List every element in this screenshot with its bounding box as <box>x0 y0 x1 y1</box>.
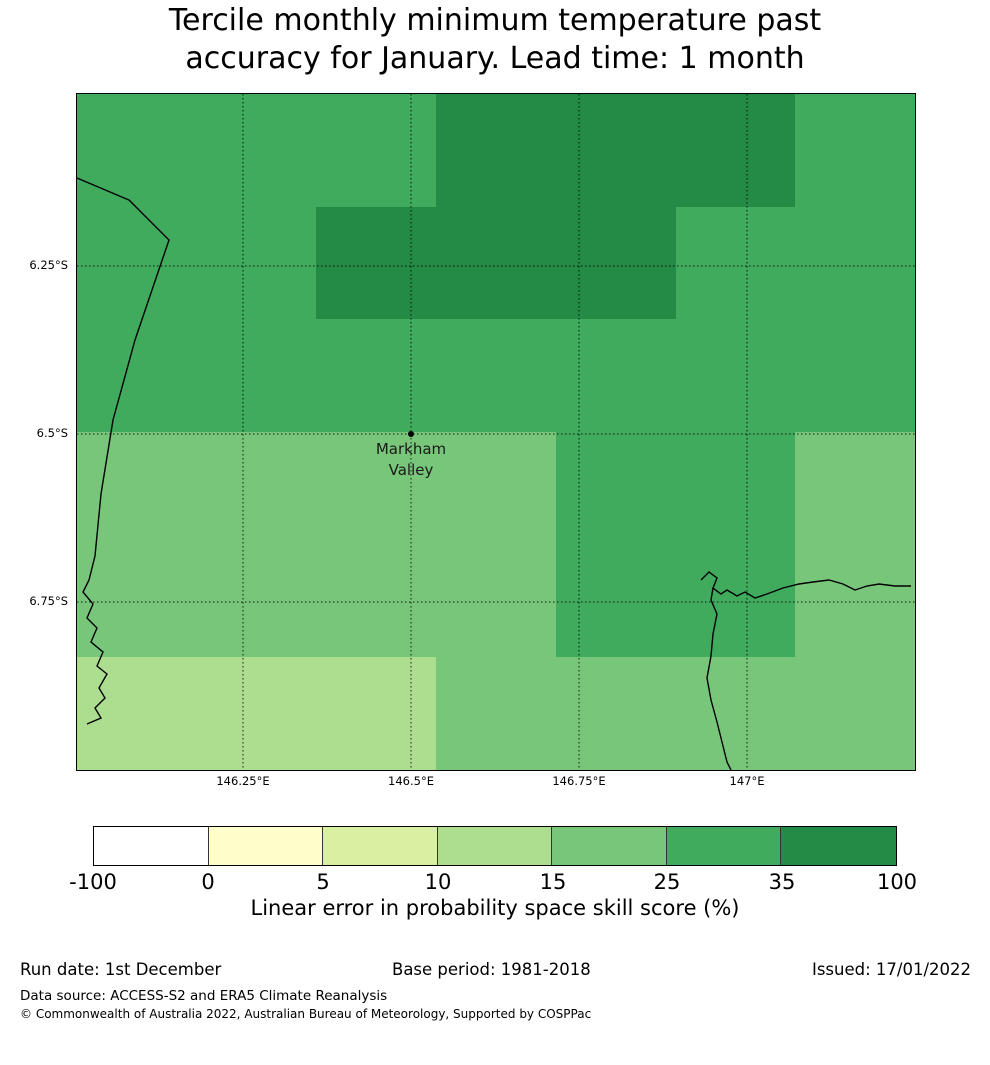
colorbar-tick-label: -100 <box>69 870 117 894</box>
footer-row: Run date: 1st December Base period: 1981… <box>0 960 990 984</box>
colorbar-swatch <box>552 827 667 865</box>
colorbar-swatch <box>94 827 209 865</box>
footer-issued-date: Issued: 17/01/2022 <box>812 960 971 980</box>
colorbar <box>93 826 897 866</box>
x-axis-tick-label: 147°E <box>730 775 765 787</box>
colorbar-tick-label: 25 <box>654 870 681 894</box>
colorbar-tick-label: 35 <box>769 870 796 894</box>
map-panel: Markham Valley <box>76 93 916 771</box>
x-axis-tick-label: 146.5°E <box>388 775 434 787</box>
y-axis-tick-label: 6.75°S <box>29 595 68 607</box>
colorbar-swatch <box>209 827 324 865</box>
colorbar-swatch <box>323 827 438 865</box>
y-axis-tick-label: 6.5°S <box>37 427 68 439</box>
colorbar-tick-label: 0 <box>201 870 214 894</box>
colorbar-swatch <box>667 827 782 865</box>
colorbar-tick-label: 100 <box>877 870 917 894</box>
markham-valley-label: Markham Valley <box>376 439 446 481</box>
colorbar-tick-label: 10 <box>425 870 452 894</box>
colorbar-swatch <box>781 827 896 865</box>
colorbar-axis-label: Linear error in probability space skill … <box>0 895 990 921</box>
markham-valley-marker-dot <box>408 431 414 437</box>
colorbar-container: -100 0 5 10 15 25 35 100 <box>93 826 897 866</box>
footer-data-source: Data source: ACCESS-S2 and ERA5 Climate … <box>20 988 387 1005</box>
x-axis-tick-label: 146.75°E <box>552 775 605 787</box>
footer-run-date: Run date: 1st December <box>20 960 221 980</box>
colorbar-tick-label: 5 <box>316 870 329 894</box>
footer-copyright: © Commonwealth of Australia 2022, Austra… <box>20 1006 591 1022</box>
page-title: Tercile monthly minimum temperature past… <box>0 0 990 78</box>
x-axis-tick-label: 146.25°E <box>216 775 269 787</box>
y-axis-tick-label: 6.25°S <box>29 259 68 271</box>
footer-base-period: Base period: 1981-2018 <box>392 960 591 980</box>
colorbar-tick-label: 15 <box>540 870 567 894</box>
place-marker-layer: Markham Valley <box>77 94 915 770</box>
colorbar-swatch <box>438 827 553 865</box>
